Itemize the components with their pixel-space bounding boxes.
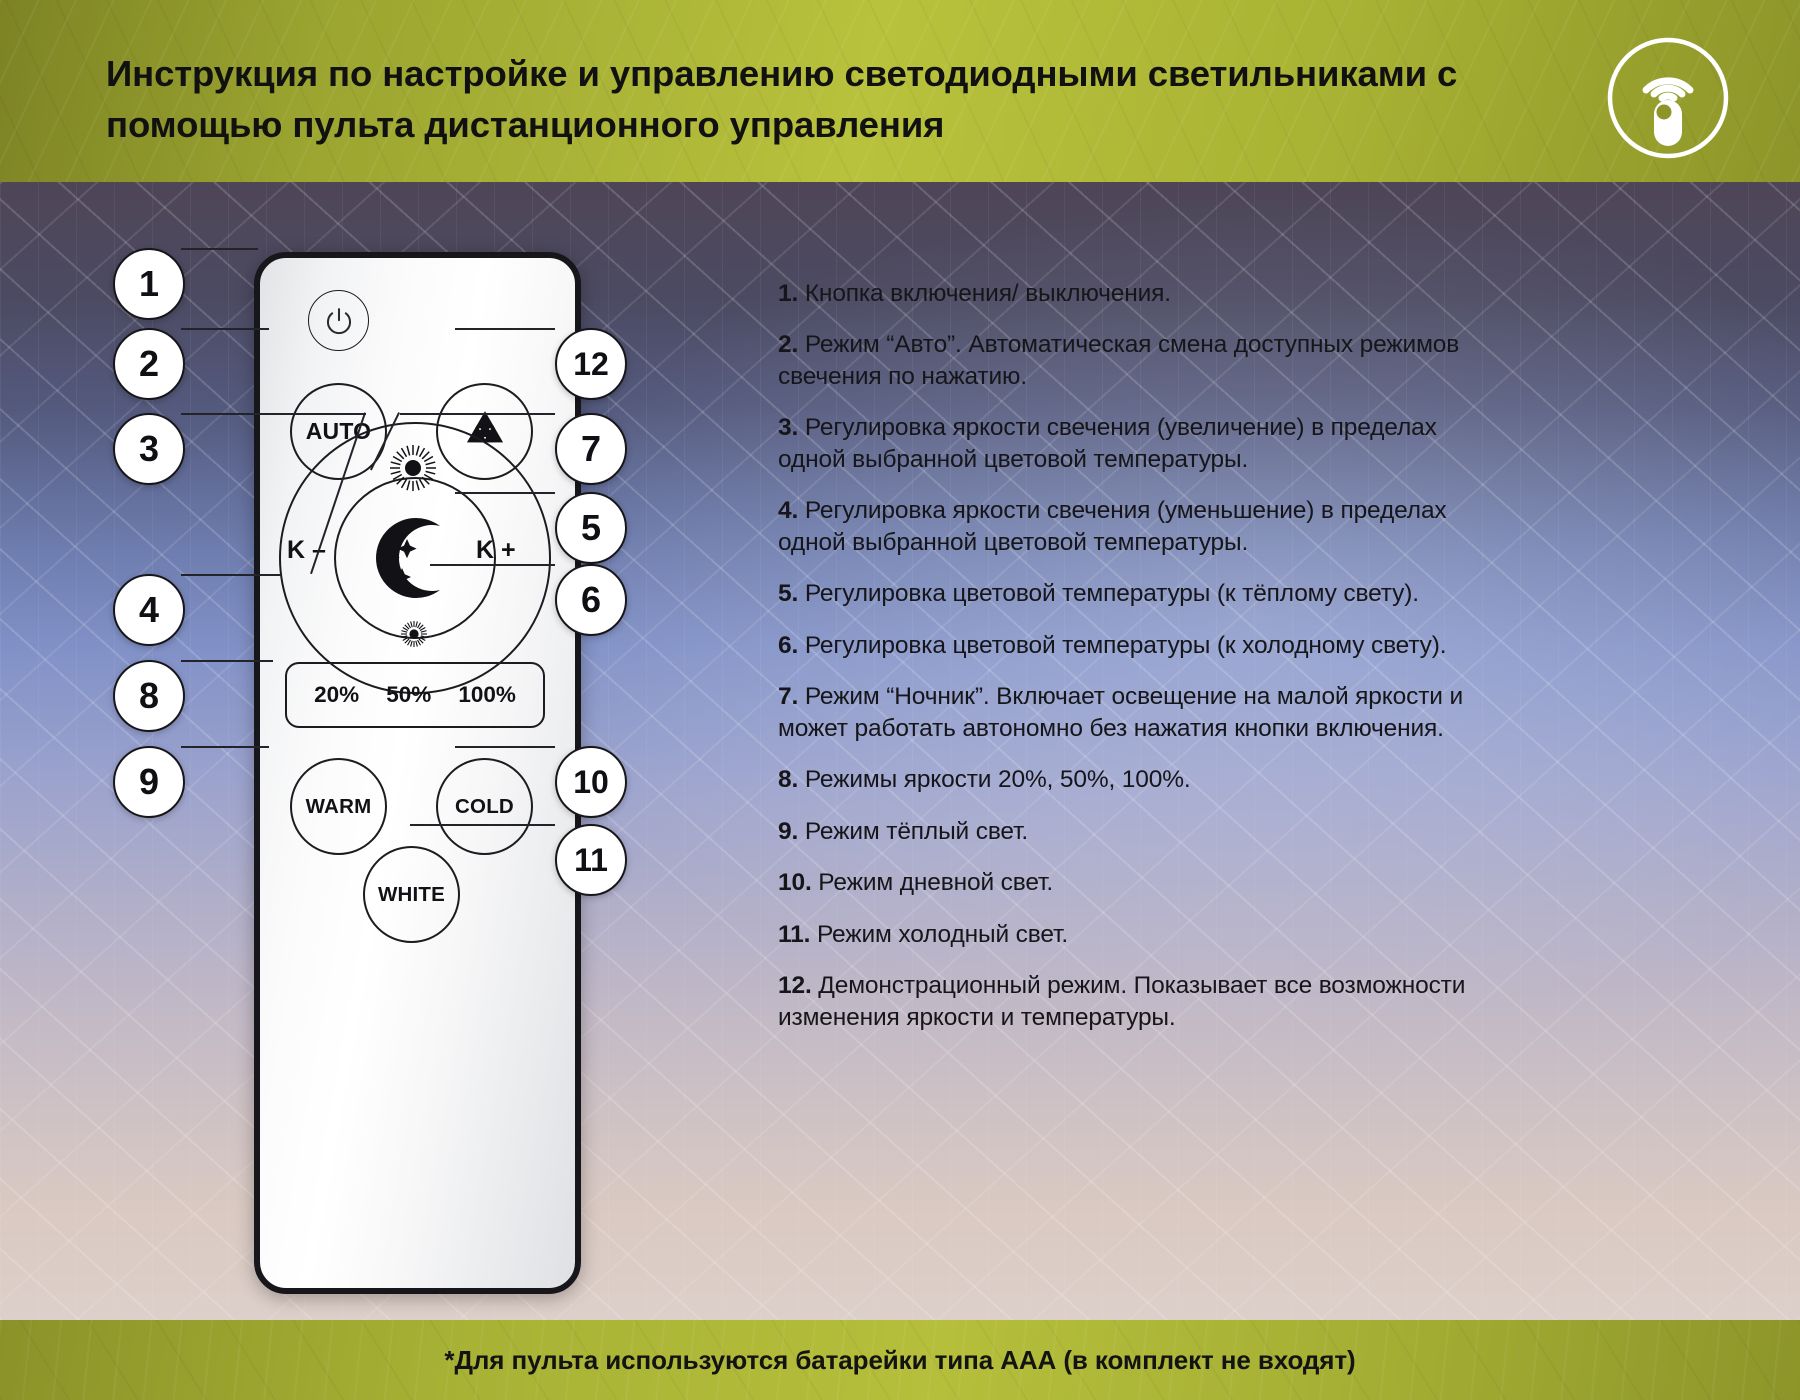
page-footer: *Для пульта используются батарейки типа … <box>0 1320 1800 1400</box>
instruction-num-7: 7. <box>778 683 798 710</box>
leader-line-10 <box>455 746 555 748</box>
instruction-text-11: Режим холодный свет. <box>817 921 1068 948</box>
leader-line-11 <box>410 824 555 826</box>
sun-small-icon <box>400 620 428 648</box>
cold-button[interactable]: COLD <box>436 758 533 855</box>
page-header: Инструкция по настройке и управлению све… <box>0 0 1800 208</box>
warm-label: WARM <box>306 795 372 819</box>
instruction-item-4: 4. Регулировка яркости свечения (уменьше… <box>778 495 1478 558</box>
instruction-text-5: Регулировка цветовой температуры (к тёпл… <box>805 580 1419 607</box>
instruction-text-2: Режим “Авто”. Автоматическая смена досту… <box>778 331 1459 389</box>
page-title: Инструкция по настройке и управлению све… <box>106 48 1486 150</box>
leader-line-7 <box>400 413 555 415</box>
instruction-num-2: 2. <box>778 331 798 358</box>
callout-2[interactable]: 2 <box>113 328 185 400</box>
leader-line-3 <box>181 413 366 415</box>
instruction-num-5: 5. <box>778 580 798 607</box>
callout-4[interactable]: 4 <box>113 574 185 646</box>
instruction-item-9: 9. Режим тёплый свет. <box>778 816 1478 847</box>
callout-1[interactable]: 1 <box>113 248 185 320</box>
instruction-item-3: 3. Регулировка яркости свечения (увеличе… <box>778 412 1478 475</box>
instruction-item-10: 10. Режим дневной свет. <box>778 867 1478 898</box>
instruction-num-4: 4. <box>778 497 798 524</box>
instruction-item-6: 6. Регулировка цветовой температуры (к х… <box>778 630 1478 661</box>
callout-10[interactable]: 10 <box>555 746 627 818</box>
battery-note: *Для пульта используются батарейки типа … <box>444 1345 1355 1376</box>
remote-signal-icon <box>1606 36 1730 160</box>
leader-line-9 <box>181 746 269 748</box>
instruction-num-3: 3. <box>778 414 798 441</box>
instruction-text-3: Регулировка яркости свечения (увеличение… <box>778 414 1437 472</box>
instruction-item-1: 1. Кнопка включения/ выключения. <box>778 278 1478 309</box>
brightness-preset-bar[interactable]: 20% 50% 100% <box>285 662 545 728</box>
leader-line-8b <box>181 660 273 662</box>
instruction-text-6: Регулировка цветовой температуры (к холо… <box>805 632 1447 659</box>
instruction-item-11: 11. Режим холодный свет. <box>778 919 1478 950</box>
instruction-num-8: 8. <box>778 766 798 793</box>
brightness-50-label[interactable]: 50% <box>386 682 431 708</box>
instruction-num-6: 6. <box>778 632 798 659</box>
cold-label: COLD <box>455 795 514 819</box>
callout-6[interactable]: 6 <box>555 564 627 636</box>
instruction-text-8: Режимы яркости 20%, 50%, 100%. <box>805 766 1191 793</box>
instruction-item-8: 8. Режимы яркости 20%, 50%, 100%. <box>778 764 1478 795</box>
white-label: WHITE <box>378 883 445 907</box>
callout-9[interactable]: 9 <box>113 746 185 818</box>
remote-control: AUTO <box>254 252 581 1294</box>
infographic-page: Инструкция по настройке и управлению све… <box>0 0 1800 1400</box>
callout-7[interactable]: 7 <box>555 413 627 485</box>
leader-line-4 <box>181 574 281 576</box>
instruction-item-7: 7. Режим “Ночник”. Включает освещение на… <box>778 681 1478 744</box>
leader-line-12 <box>455 328 555 330</box>
temp-cooler-button[interactable]: K + <box>476 536 516 565</box>
callout-11[interactable]: 11 <box>555 824 627 896</box>
instruction-text-7: Режим “Ночник”. Включает освещение на ма… <box>778 683 1463 741</box>
white-button[interactable]: WHITE <box>363 846 460 943</box>
instruction-num-1: 1. <box>778 280 798 307</box>
brightness-100-label[interactable]: 100% <box>458 682 516 708</box>
callout-3[interactable]: 3 <box>113 413 185 485</box>
leader-line-1 <box>181 248 258 250</box>
warm-button[interactable]: WARM <box>290 758 387 855</box>
instruction-text-1: Кнопка включения/ выключения. <box>805 280 1171 307</box>
power-button[interactable] <box>308 290 369 351</box>
leader-line-6 <box>430 564 555 566</box>
moon-stars-icon <box>362 506 464 608</box>
instruction-num-10: 10. <box>778 869 812 896</box>
instruction-item-12: 12. Демонстрационный режим. Показывает в… <box>778 970 1478 1033</box>
power-icon <box>322 304 356 338</box>
instruction-text-10: Режим дневной свет. <box>818 869 1053 896</box>
instruction-num-12: 12. <box>778 972 812 999</box>
leader-line-5 <box>455 492 555 494</box>
sun-large-icon <box>388 443 438 493</box>
instruction-num-9: 9. <box>778 818 798 845</box>
instruction-text-9: Режим тёплый свет. <box>805 818 1028 845</box>
instruction-text-4: Регулировка яркости свечения (уменьшение… <box>778 497 1447 555</box>
instruction-item-5: 5. Регулировка цветовой температуры (к т… <box>778 578 1478 609</box>
instruction-item-2: 2. Режим “Авто”. Автоматическая смена до… <box>778 329 1478 392</box>
night-mode-button[interactable] <box>362 506 464 608</box>
instruction-num-11: 11. <box>778 921 810 948</box>
brightness-up-button[interactable] <box>388 443 438 493</box>
callout-8[interactable]: 8 <box>113 660 185 732</box>
callout-5[interactable]: 5 <box>555 492 627 564</box>
instruction-text-12: Демонстрационный режим. Показывает все в… <box>778 972 1465 1030</box>
callout-12[interactable]: 12 <box>555 328 627 400</box>
brightness-down-button[interactable] <box>400 620 428 648</box>
brightness-20-label[interactable]: 20% <box>314 682 359 708</box>
instruction-list: 1. Кнопка включения/ выключения. 2. Режи… <box>778 278 1478 1278</box>
leader-line-2 <box>181 328 269 330</box>
